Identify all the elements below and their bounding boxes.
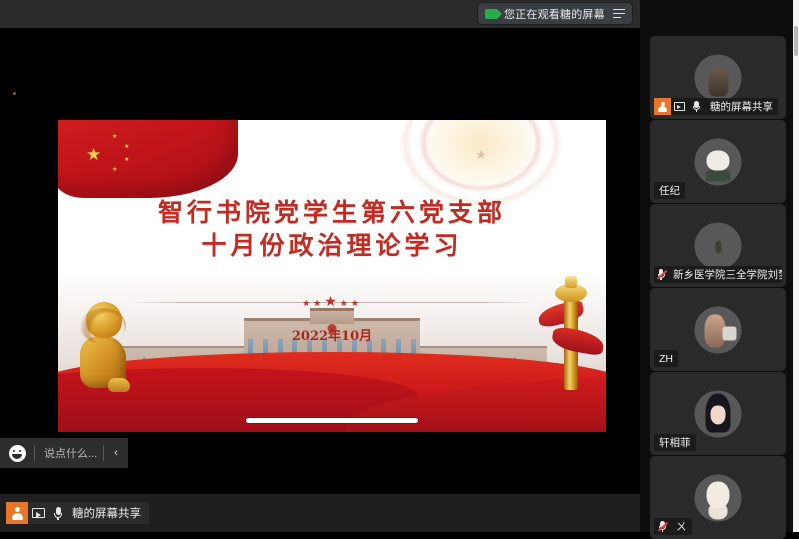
chat-input[interactable]: 说点什么...: [35, 445, 103, 461]
chevron-left-icon[interactable]: ‹: [104, 438, 128, 468]
flag-small-star: ★: [124, 144, 129, 150]
participant-name: 轩相菲: [654, 435, 696, 450]
screen-share-icon: [671, 98, 688, 115]
microphone-icon[interactable]: [688, 98, 705, 115]
participant-name: ZH: [654, 353, 678, 365]
participant-name: 任纪: [654, 183, 685, 198]
star-divider-left: ★★: [302, 298, 324, 308]
avatar: [695, 222, 742, 269]
stage-artifact-dot: [13, 92, 16, 95]
participant-tile[interactable]: 糖的屏幕共享: [650, 36, 786, 119]
flag-small-star: ★: [112, 167, 117, 173]
star-divider-center: ★: [324, 293, 340, 309]
participant-label: ㄨ: [654, 518, 692, 535]
participant-label: 轩相菲: [654, 434, 696, 451]
slide-progress-bar[interactable]: [246, 418, 418, 423]
star-divider: ★★★★★: [58, 293, 606, 310]
participant-label: 任纪: [654, 182, 685, 199]
microphone-icon[interactable]: [48, 502, 68, 524]
microphone-muted-icon[interactable]: [654, 518, 671, 535]
list-menu-icon[interactable]: [613, 9, 625, 19]
star-divider-right: ★★: [340, 298, 362, 308]
flag-small-star: ★: [124, 157, 129, 163]
participant-tile[interactable]: 任纪: [650, 120, 786, 203]
screen-share-icon: [28, 502, 48, 524]
participant-rail[interactable]: 糖的屏幕共享 任纪 新乡医学院三全学院刘梦… ZH: [640, 0, 799, 532]
golden-lion-statue: [74, 302, 132, 388]
flag-small-star: ★: [112, 134, 117, 140]
flag-big-star: ★: [86, 146, 101, 163]
participant-tile[interactable]: ZH: [650, 288, 786, 371]
self-participant-name: 糖的屏幕共享: [68, 505, 149, 521]
chinese-flag-icon: ★ ★ ★ ★ ★: [58, 120, 238, 198]
host-person-icon: [6, 502, 28, 524]
avatar: [695, 390, 742, 437]
microphone-muted-icon[interactable]: [654, 266, 668, 283]
participant-label: 糖的屏幕共享: [654, 98, 778, 115]
screen-share-notice[interactable]: 您正在观看糖的屏幕: [478, 3, 632, 24]
participant-tile[interactable]: 新乡医学院三全学院刘梦…: [650, 204, 786, 287]
top-bar: 您正在观看糖的屏幕: [0, 0, 640, 28]
smiley-face-icon[interactable]: [0, 438, 34, 468]
shared-slide: ★ ★ ★ ★ ★: [58, 120, 606, 432]
screen-share-notice-text: 您正在观看糖的屏幕: [504, 6, 605, 22]
scrollbar-thumb[interactable]: [794, 26, 798, 56]
slide-title-block: 智行书院党学生第六党支部 十月份政治理论学习: [58, 196, 606, 262]
camera-icon: [485, 9, 498, 19]
host-person-icon: [654, 98, 671, 115]
participant-name: 新乡医学院三全学院刘梦…: [668, 267, 782, 282]
slide-date: 2022年10月: [58, 325, 606, 344]
participant-tile[interactable]: ㄨ: [650, 456, 786, 539]
chat-input-bar[interactable]: 说点什么... ‹: [0, 438, 128, 468]
participant-tile[interactable]: 轩相菲: [650, 372, 786, 455]
meeting-window: 您正在观看糖的屏幕 ★ ★ ★ ★ ★: [0, 0, 799, 532]
participant-name: 糖的屏幕共享: [705, 99, 778, 114]
participant-rail-scrollbar[interactable]: [793, 0, 799, 532]
slide-title-line-1: 智行书院党学生第六党支部: [58, 196, 606, 229]
self-participant-chip[interactable]: 糖的屏幕共享: [6, 502, 149, 524]
bottom-bar: 糖的屏幕共享: [0, 494, 640, 532]
avatar: [695, 138, 742, 185]
avatar: [695, 54, 742, 101]
participant-label: 新乡医学院三全学院刘梦…: [654, 266, 782, 283]
participant-label: ZH: [654, 350, 678, 367]
slide-title-line-2: 十月份政治理论学习: [58, 229, 606, 262]
shared-screen-stage[interactable]: ★ ★ ★ ★ ★: [0, 28, 640, 494]
avatar: [695, 474, 742, 521]
avatar: [695, 306, 742, 353]
